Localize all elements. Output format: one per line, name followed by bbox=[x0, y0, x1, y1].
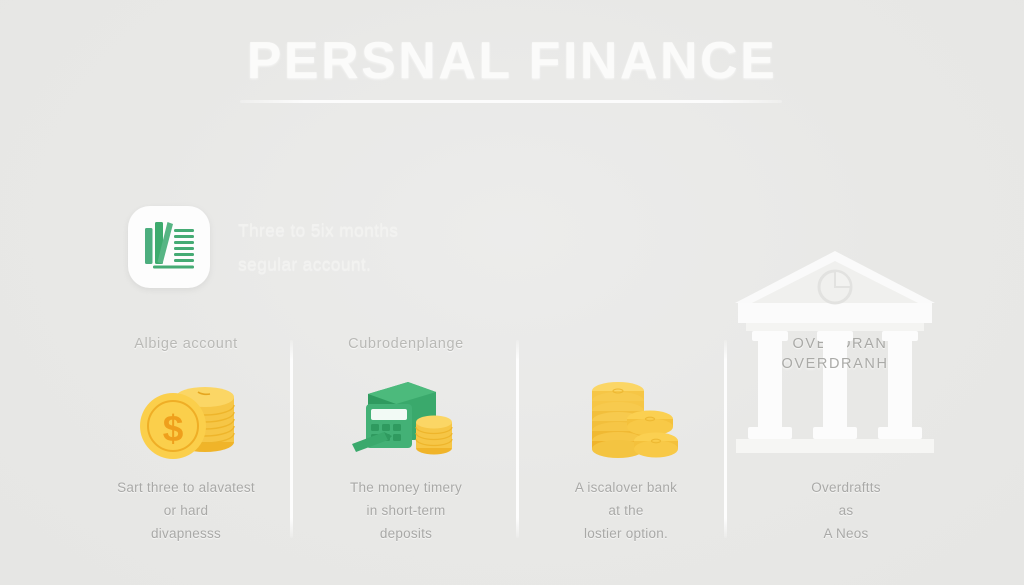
column-albige-account: Albige account bbox=[76, 336, 296, 551]
column-caption-3: A iscalover bank at the lostier option. bbox=[575, 476, 677, 546]
coin-pile-icon bbox=[570, 377, 682, 465]
gold-coin-dollar-icon: $ bbox=[132, 378, 240, 464]
title-block: PERSNAL FINANCE bbox=[0, 34, 1024, 89]
caption-line: A iscalover bank bbox=[575, 476, 677, 499]
caption-line: The money timery bbox=[350, 476, 462, 499]
caption-line: in short-term bbox=[350, 499, 462, 522]
slide-canvas: PERSNAL FINANCE bbox=[0, 0, 1024, 585]
svg-text:$: $ bbox=[163, 408, 184, 449]
notepad-checklist-icon-tile bbox=[128, 206, 210, 288]
caption-line: as bbox=[811, 499, 881, 522]
column-caption-4: Overdraftts as A Neos bbox=[811, 476, 881, 546]
title-underline-divider bbox=[240, 100, 782, 103]
caption-line: lostier option. bbox=[575, 522, 677, 545]
column-header-2: Cubrodenplange bbox=[348, 336, 464, 366]
highlight-row: Three to 5ix months segular account. bbox=[128, 206, 398, 288]
caption-line: deposits bbox=[350, 522, 462, 545]
column-icon-1: $ bbox=[132, 366, 240, 476]
column-header-1: Albige account bbox=[134, 336, 238, 366]
caption-line: at the bbox=[575, 499, 677, 522]
caption-line: A Neos bbox=[811, 522, 881, 545]
caption-line: or hard bbox=[117, 499, 255, 522]
caption-line: Sart three to alavatest bbox=[117, 476, 255, 499]
highlight-text-block: Three to 5ix months segular account. bbox=[238, 213, 398, 281]
calculator-coins-icon bbox=[348, 378, 464, 464]
column-icon-3 bbox=[570, 366, 682, 476]
column-cubrodenplange: Cubrodenplange bbox=[296, 336, 516, 551]
notepad-checklist-icon bbox=[140, 218, 198, 276]
column-icon-2 bbox=[348, 366, 464, 476]
column-caption-2: The money timery in short-term deposits bbox=[350, 476, 462, 546]
column-coin-pile: A iscalover bank at the lostier option. bbox=[516, 336, 736, 551]
bank-overdraft-label: OVERDRANH bbox=[726, 356, 944, 372]
caption-line: Overdraftts bbox=[811, 476, 881, 499]
pie-chart-icon bbox=[819, 271, 851, 303]
page-title: PERSNAL FINANCE bbox=[0, 34, 1024, 89]
highlight-line-2: segular account. bbox=[238, 247, 398, 281]
highlight-line-1: Three to 5ix months bbox=[238, 213, 398, 247]
column-caption-1: Sart three to alavatest or hard divapnes… bbox=[117, 476, 255, 546]
caption-line: divapnesss bbox=[117, 522, 255, 545]
